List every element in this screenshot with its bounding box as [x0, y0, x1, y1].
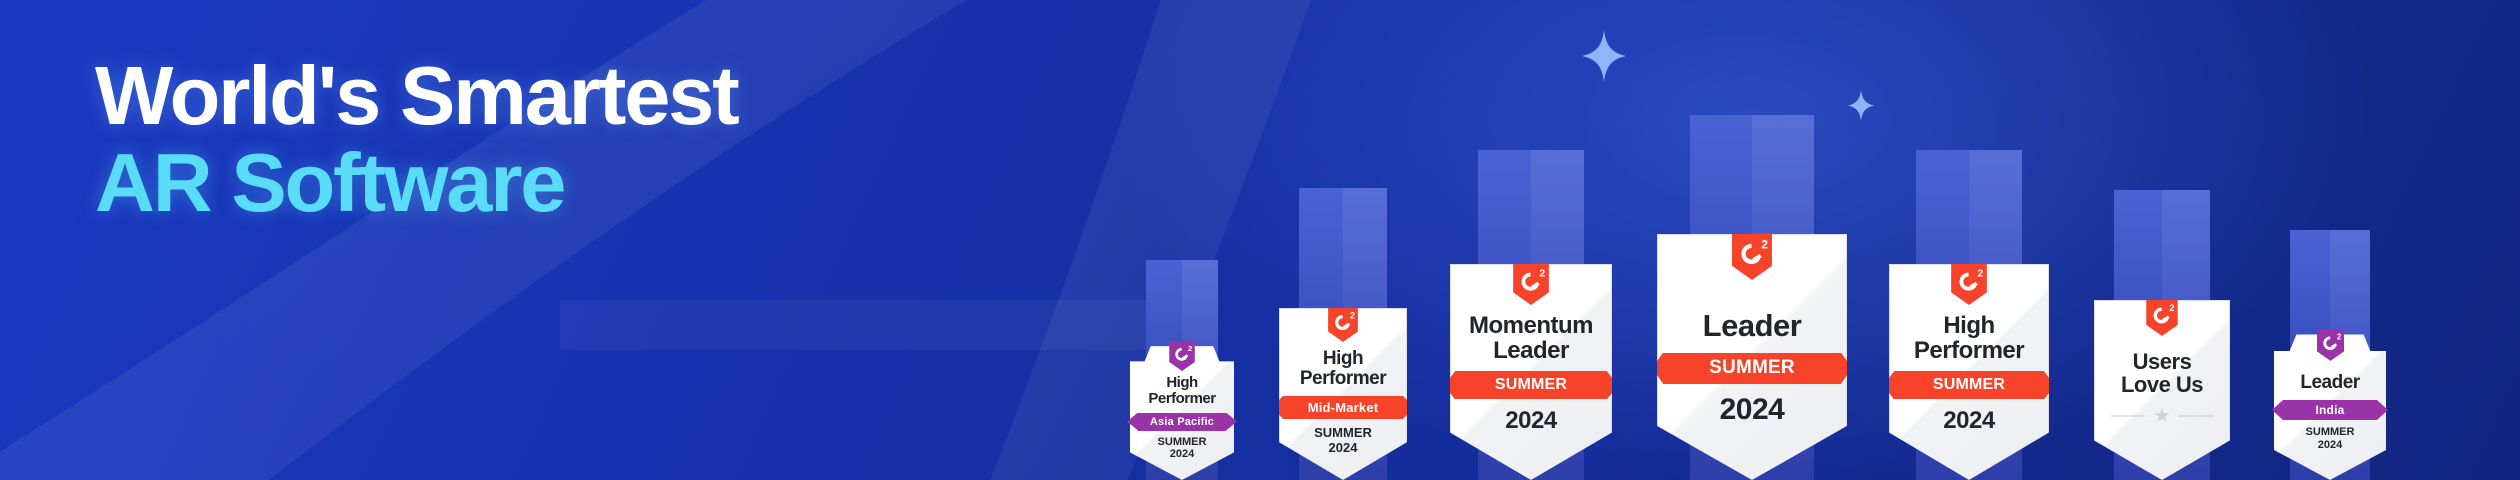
svg-text:2: 2 [2336, 332, 2341, 341]
badge-title: High Performer [1300, 349, 1386, 389]
svg-text:2: 2 [1539, 268, 1545, 280]
badge-high-performer[interactable]: 2 High Performer SUMMER 2024 [1880, 36, 2058, 480]
awards-badge-group: 2 High Performer Asia Pacific SUMMER 202… [1120, 0, 2520, 480]
badge-title: High Performer [1148, 375, 1215, 407]
badge-ribbon: SUMMER [1894, 371, 2044, 399]
star-icon: ★ [2153, 406, 2171, 426]
badge-leader[interactable]: 2 Leader SUMMER 2024 [1648, 0, 1856, 480]
badge-ribbon-label: SUMMER [1495, 376, 1567, 394]
badge-subtitle: SUMMER 2024 [2306, 426, 2355, 451]
badge-title: Leader [2300, 373, 2359, 393]
svg-text:2: 2 [1761, 238, 1768, 251]
g2-logo-icon: 2 [1951, 263, 1987, 305]
badge-year: 2024 [1505, 407, 1556, 435]
badge-ribbon-label: Asia Pacific [1150, 416, 1214, 428]
g2-logo-icon: 2 [2146, 299, 2178, 336]
g2-logo-icon: 2 [1732, 233, 1772, 280]
badge-leader-india[interactable]: 2 Leader India SUMMER 2024 [2260, 128, 2400, 480]
divider-rule-right [2179, 415, 2213, 417]
g2-logo-icon: 2 [1169, 341, 1195, 371]
badge-title: Leader [1703, 310, 1802, 343]
badge-title: Users Love Us [2121, 350, 2203, 396]
badge-year: 2024 [1943, 407, 1994, 435]
badge-ribbon: SUMMER [1663, 353, 1841, 384]
badge-ribbon: Asia Pacific [1138, 413, 1226, 431]
g2-logo-icon: 2 [1513, 263, 1549, 305]
badge-ribbon-label: SUMMER [1709, 357, 1795, 379]
badge-year: 2024 [1720, 393, 1785, 427]
g2-awards-banner: World's Smartest AR Software 2 [0, 0, 2520, 480]
star-divider: ★ [2111, 406, 2213, 426]
badge-momentum-leader[interactable]: 2 Momentum Leader SUMMER 2024 [1442, 36, 1620, 480]
svg-text:2: 2 [2169, 303, 2174, 313]
svg-text:2: 2 [1350, 310, 1355, 320]
svg-text:2: 2 [1977, 268, 1983, 280]
badge-title: Momentum Leader [1469, 313, 1593, 363]
headline-line-2: AR Software [95, 142, 995, 223]
badge-high-performer-asia-pacific[interactable]: 2 High Performer Asia Pacific SUMMER 202… [1120, 160, 1244, 480]
badge-subtitle: SUMMER 2024 [1158, 436, 1207, 461]
badge-ribbon: SUMMER [1455, 371, 1607, 399]
badge-ribbon: India [2283, 400, 2377, 420]
badge-high-performer-mid-market[interactable]: 2 High Performer Mid-Market SUMMER 2024 [1268, 90, 1418, 480]
badge-ribbon-label: India [2315, 403, 2344, 417]
svg-text:2: 2 [1188, 344, 1192, 353]
badge-ribbon: Mid-Market [1283, 396, 1403, 419]
divider-rule-left [2111, 415, 2145, 417]
badge-title: High Performer [1914, 313, 2024, 363]
badge-ribbon-label: SUMMER [1933, 376, 2005, 394]
badge-subtitle: SUMMER 2024 [1314, 426, 1372, 456]
badge-ribbon-label: Mid-Market [1308, 400, 1379, 415]
g2-logo-icon: 2 [1328, 307, 1358, 342]
badge-users-love-us[interactable]: 2 Users Love Us ★ [2082, 80, 2242, 480]
headline-line-1: World's Smartest [95, 55, 995, 136]
g2-logo-icon: 2 [2317, 329, 2344, 361]
headline: World's Smartest AR Software [95, 55, 995, 224]
